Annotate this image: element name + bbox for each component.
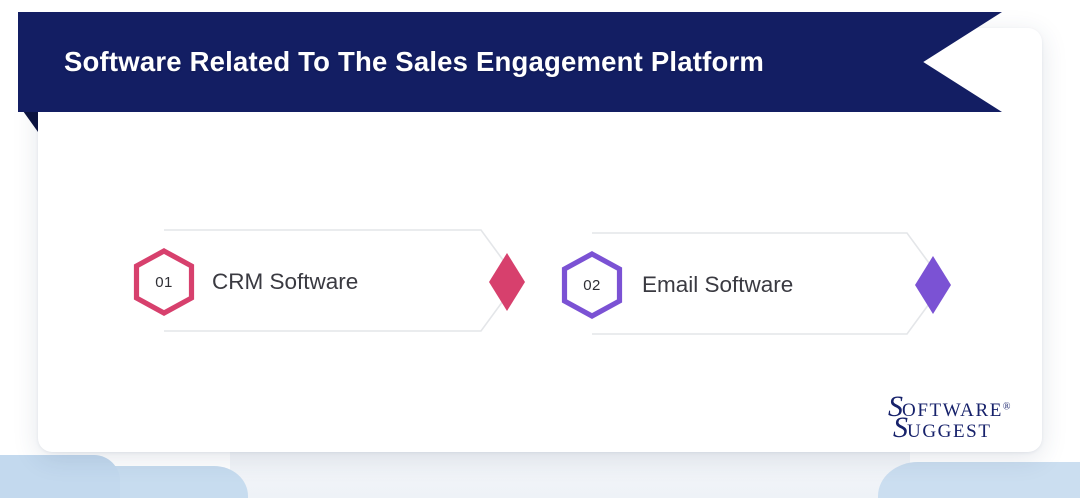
arrow-tip-diamond-icon (913, 256, 953, 314)
flow-item-number: 02 (561, 251, 623, 319)
flow-item-label: Email Software (642, 251, 793, 319)
logo-line-2: Suggest (893, 413, 1011, 443)
flow-item-number: 01 (133, 248, 195, 316)
logo-line2-capital: S (893, 411, 907, 444)
softwaresuggest-logo: Software® Suggest (888, 392, 1011, 443)
arrow-tip-diamond-icon (487, 253, 527, 311)
registered-trademark-icon: ® (1003, 402, 1011, 413)
logo-line2-text: uggest (907, 421, 992, 442)
flow-item-label: CRM Software (212, 248, 358, 316)
